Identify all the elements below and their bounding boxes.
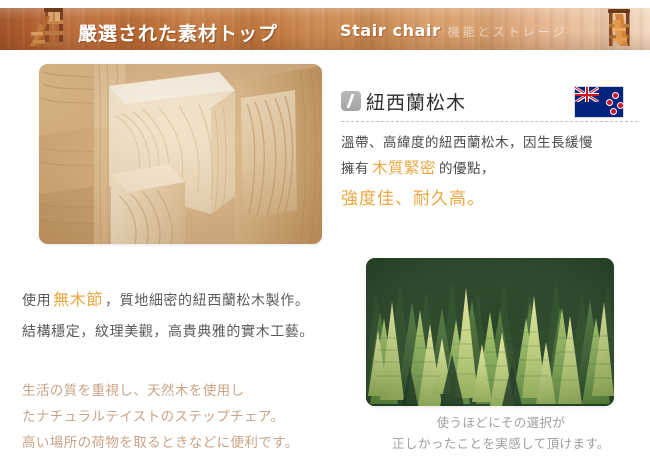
header-subtitle: Stair chair 機能とストレージ <box>340 21 567 40</box>
desc-zh-line1-suffix: ，質地細密的紐西蘭松木製作。 <box>105 293 309 309</box>
flag-star <box>606 99 613 106</box>
step-ladder-chair-left-icon <box>26 8 70 50</box>
material-strength-line: 強度佳、耐久高。 <box>341 186 641 212</box>
flag-star <box>610 108 617 115</box>
material-info-block: 紐西蘭松木 溫帶、高緯度的紐西蘭松木，因生長緩慢 擁有木質緊密的優點， 強度佳、… <box>341 86 641 212</box>
desc-jp-line1: 生活の質を重視し、天然木を使用し <box>22 378 299 404</box>
pine-forest-photo <box>366 258 614 406</box>
new-zealand-flag-icon <box>574 86 624 118</box>
info-divider <box>341 121 638 122</box>
header-subtitle-jp: 機能とストレージ <box>448 23 568 40</box>
forest-caption-line1: 使うほどにその選択が <box>366 412 636 433</box>
material-desc-line2: 擁有木質緊密的優點， <box>341 156 641 182</box>
desc-jp-line3: 高い場所の荷物を取るときなどに便利です。 <box>22 430 299 456</box>
flag-star <box>617 102 624 109</box>
material-title: 紐西蘭松木 <box>366 88 466 115</box>
material-desc-line1: 溫帶、高緯度的紐西蘭松木，因生長緩慢 <box>341 131 641 156</box>
desc-zh-line1-prefix: 使用 <box>22 293 51 309</box>
product-description-zh: 使用無木節，質地細密的紐西蘭松木製作。 結構穩定，紋理美觀，高貴典雅的實木工藝。 <box>22 284 314 348</box>
forest-caption-line2: 正しかったことを実感して頂けます。 <box>366 433 636 454</box>
product-description-jp: 生活の質を重視し、天然木を使用し たナチュラルテイストのステップチェア。 高い場… <box>22 378 299 456</box>
step-ladder-chair-right-icon <box>598 8 642 50</box>
material-description: 溫帶、高緯度的紐西蘭松木，因生長緩慢 擁有木質緊密的優點， <box>341 131 641 182</box>
desc-line2-suffix: 的優點， <box>439 161 495 177</box>
header-subtitle-en: Stair chair <box>340 21 441 40</box>
material-title-row: 紐西蘭松木 <box>341 86 641 116</box>
desc-line2-prefix: 擁有 <box>341 161 369 177</box>
desc-jp-line2: たナチュラルテイストのステップチェア。 <box>22 404 299 430</box>
union-jack-canton <box>575 87 599 102</box>
desc-zh-line1: 使用無木節，質地細密的紐西蘭松木製作。 <box>22 284 314 317</box>
number-one-badge-icon <box>341 91 361 111</box>
desc-zh-line2: 結構穩定，紋理美觀，高貴典雅的實木工藝。 <box>22 317 314 348</box>
forest-photo-caption: 使うほどにその選択が 正しかったことを実感して頂けます。 <box>366 412 636 454</box>
flag-star <box>612 92 619 99</box>
page-header-banner: 嚴選された素材トップ Stair chair 機能とストレージ <box>0 8 650 50</box>
desc-zh-line1-highlight: 無木節 <box>51 290 105 309</box>
desc-line2-highlight: 木質緊密 <box>369 159 439 177</box>
page-title: 嚴選された素材トップ <box>78 19 278 46</box>
pine-lumber-photo <box>39 64 322 244</box>
